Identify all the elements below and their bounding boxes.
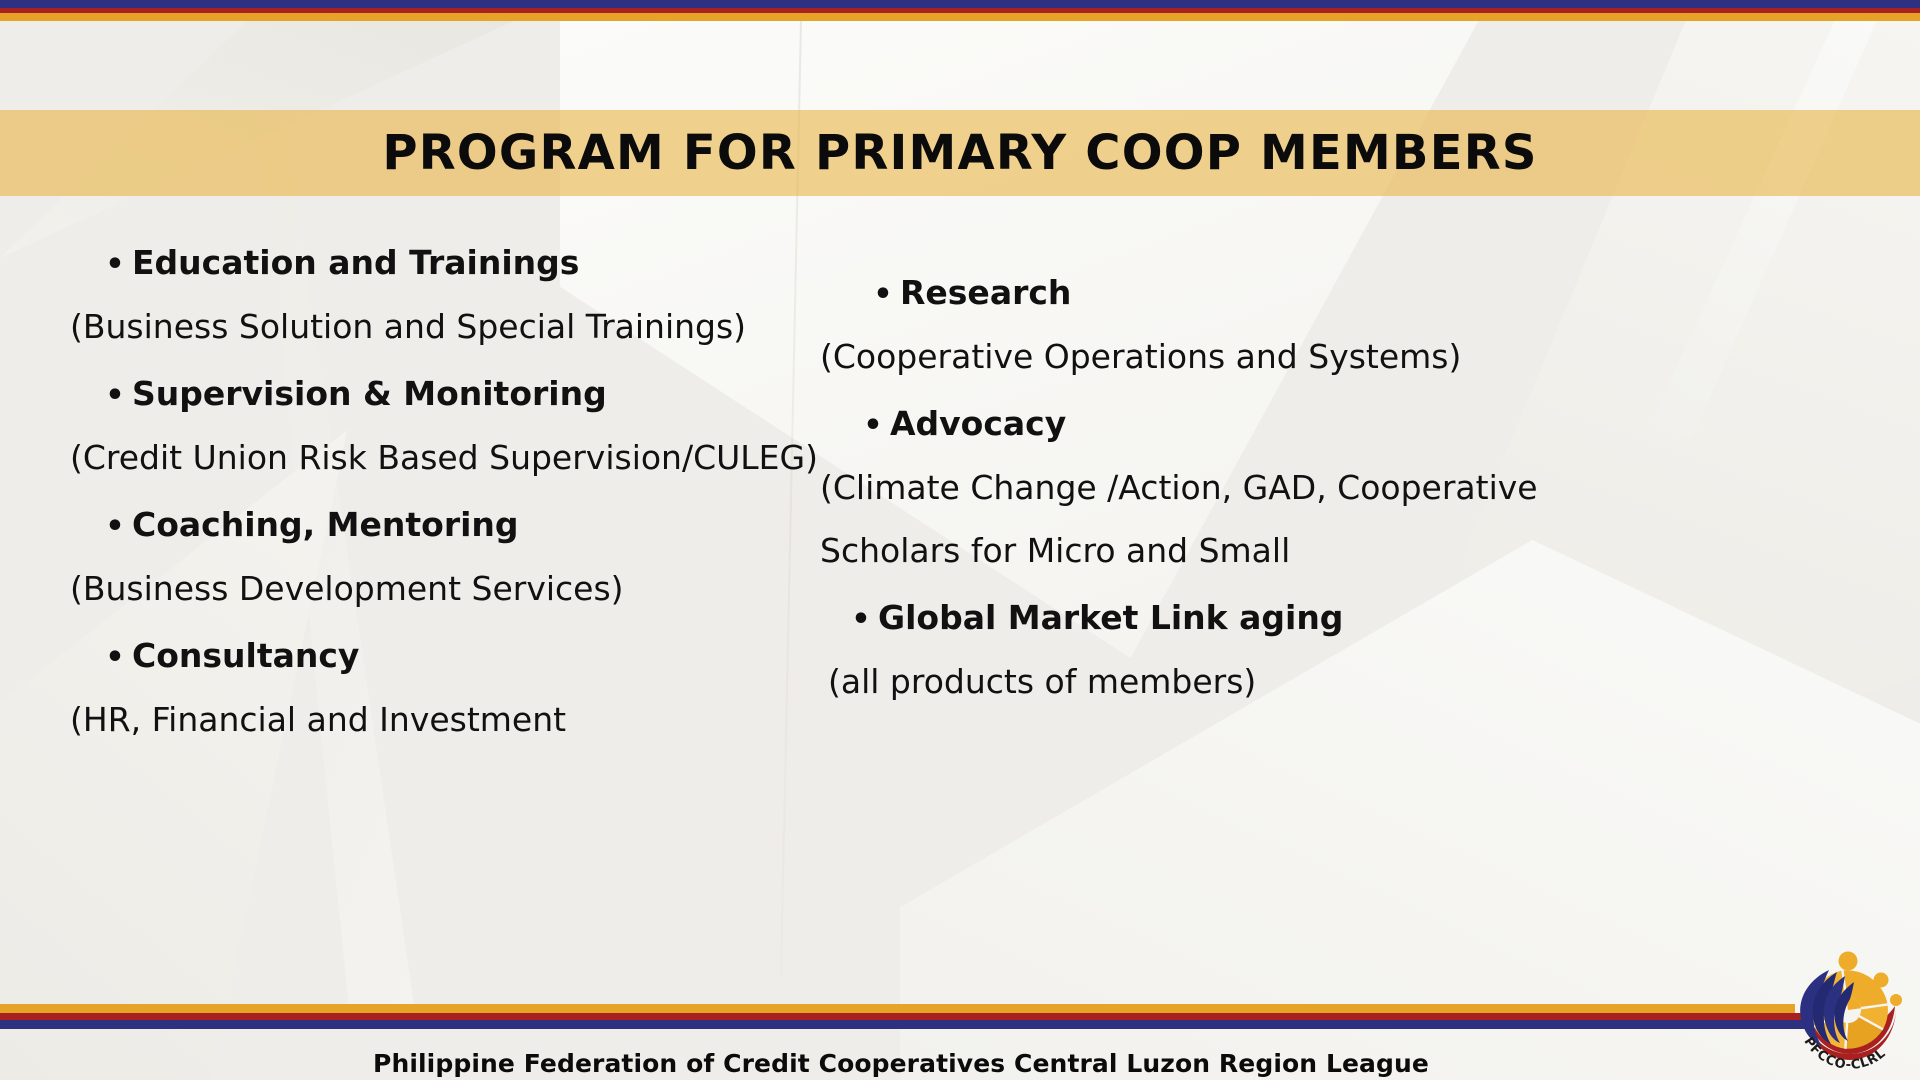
slide-canvas: PROGRAM FOR PRIMARY COOP MEMBERS • Educa… (0, 0, 1920, 1080)
list-item-detail: (Cooperative Operations and Systems) (820, 326, 1580, 389)
list-item-detail: (HR, Financial and Investment (70, 689, 860, 752)
list-item-label: Coaching, Mentoring (132, 508, 519, 541)
list-item: • Coaching, Mentoring (70, 490, 860, 558)
list-item: • Consultancy (70, 621, 860, 689)
footer-stripe-navy (0, 1020, 1855, 1029)
list-item-label: Research (900, 276, 1071, 309)
bullet-dot-icon: • (98, 643, 132, 673)
logo-dot-right (1890, 994, 1902, 1006)
content-column-left: • Education and Trainings (Business Solu… (70, 228, 860, 752)
logo-dot-upper-right (1874, 973, 1889, 988)
bullet-dot-icon: • (98, 512, 132, 542)
title-band: PROGRAM FOR PRIMARY COOP MEMBERS (0, 110, 1920, 196)
list-item: • Research (820, 258, 1580, 326)
top-stripe-bar (0, 0, 1920, 20)
list-item-detail: (Business Solution and Special Trainings… (70, 296, 860, 359)
footer-stripe-bar (0, 1004, 1920, 1030)
list-item-label: Advocacy (890, 407, 1066, 440)
list-item-label: Global Market Link aging (878, 601, 1343, 634)
list-item-detail: (Credit Union Risk Based Supervision/CUL… (70, 427, 860, 490)
list-item-label: Consultancy (132, 639, 359, 672)
list-item-detail: (all products of members) (820, 651, 1580, 714)
list-item-detail: (Business Development Services) (70, 558, 860, 621)
list-item: • Advocacy (820, 389, 1580, 457)
bullet-dot-icon: • (844, 605, 878, 635)
top-stripe-navy (0, 0, 1920, 8)
logo-dot-top (1839, 952, 1858, 971)
page-title: PROGRAM FOR PRIMARY COOP MEMBERS (382, 125, 1537, 181)
list-item: • Supervision & Monitoring (70, 359, 860, 427)
list-item-label: Education and Trainings (132, 246, 579, 279)
list-item: • Education and Trainings (70, 228, 860, 296)
bullet-dot-icon: • (98, 250, 132, 280)
pfcco-clrl-logo: PFCCO-CLRL (1788, 948, 1912, 1076)
footer-organization-name: Philippine Federation of Credit Cooperat… (0, 1049, 1920, 1078)
bullet-dot-icon: • (98, 381, 132, 411)
footer-stripe-gold (0, 1004, 1795, 1013)
list-item-detail: Scholars for Micro and Small (820, 520, 1580, 583)
list-item: • Global Market Link aging (820, 583, 1580, 651)
bullet-dot-icon: • (856, 411, 890, 441)
footer-stripe-red (0, 1013, 1825, 1020)
bullet-dot-icon: • (866, 280, 900, 310)
content-column-right: • Research (Cooperative Operations and S… (820, 258, 1580, 714)
list-item-label: Supervision & Monitoring (132, 377, 607, 410)
top-stripe-gold (0, 13, 1920, 21)
list-item-detail: (Climate Change /Action, GAD, Cooperativ… (820, 457, 1580, 520)
